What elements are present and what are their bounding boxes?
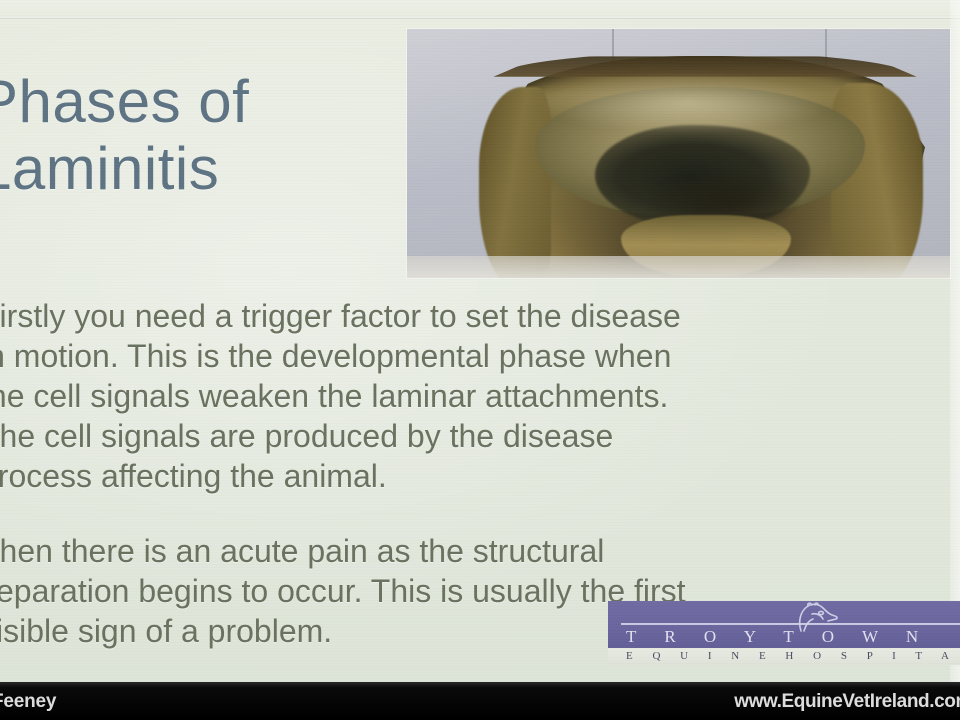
slide-paragraph-1: Firstly you need a trigger factor to set… xyxy=(0,296,900,496)
footer-website-url: www.EquineVetIreland.com xyxy=(734,691,960,713)
presentation-slide: Phases of Laminitis Firstly you need a t… xyxy=(0,0,960,682)
slide-title: Phases of Laminitis xyxy=(0,68,408,202)
hoof-photograph xyxy=(407,29,950,278)
slide-right-edge xyxy=(950,0,960,682)
hoof-highlight xyxy=(537,73,837,133)
photo-floor xyxy=(407,256,950,278)
logo-wordmark: T R O Y T O W N xyxy=(626,627,960,647)
footer-speaker-name: Feeney xyxy=(0,691,56,713)
logo-hairline xyxy=(621,623,960,625)
troytown-logo: T R O Y T O W N E Q U I N E H O S P I T … xyxy=(608,601,960,665)
logo-subtitle: E Q U I N E H O S P I T A L xyxy=(608,648,960,665)
video-footer-bar: Feeney www.EquineVetIreland.com xyxy=(0,682,960,720)
slide-body-text: Firstly you need a trigger factor to set… xyxy=(0,296,900,651)
slide-top-divider xyxy=(0,17,960,20)
logo-purple-panel: T R O Y T O W N xyxy=(608,601,960,648)
hoof-wall-left xyxy=(479,87,551,278)
slide-top-band xyxy=(0,0,960,17)
video-frame: Phases of Laminitis Firstly you need a t… xyxy=(0,0,960,720)
